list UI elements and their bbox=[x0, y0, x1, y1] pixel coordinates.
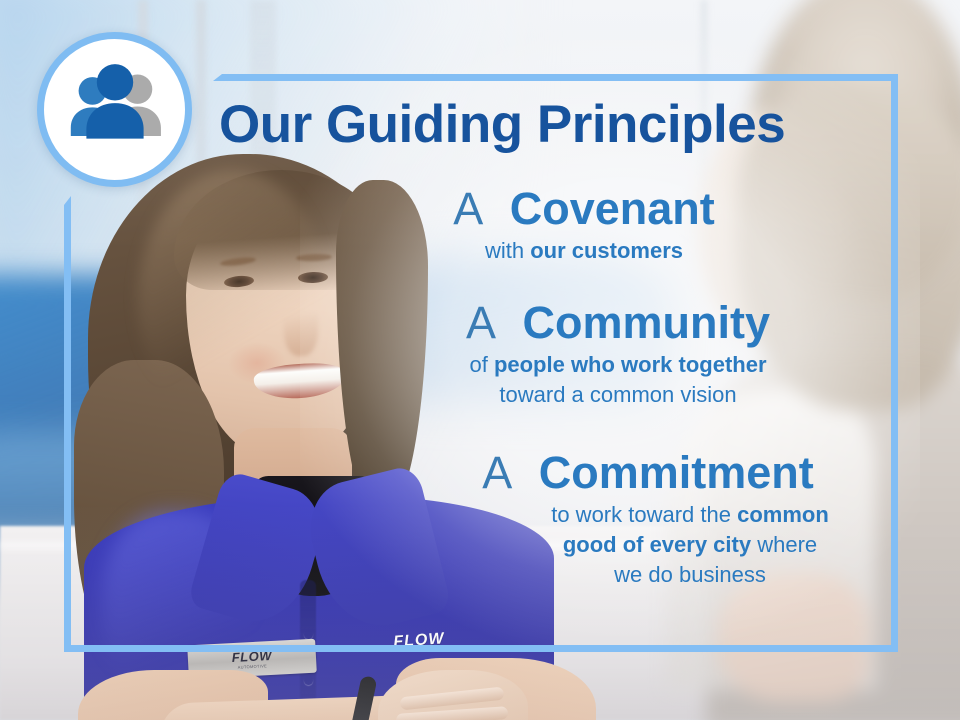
frame-border-right bbox=[891, 74, 898, 652]
principle-covenant: A Covenant with our customers bbox=[288, 182, 880, 266]
principle-covenant-title: A Covenant bbox=[288, 182, 880, 236]
principle-keyword: Commitment bbox=[539, 447, 814, 498]
principle-community-title: A Community bbox=[356, 296, 880, 350]
page-title: Our Guiding Principles bbox=[219, 96, 859, 154]
principle-article: A bbox=[466, 297, 496, 348]
principle-commitment-title: A Commitment bbox=[416, 446, 880, 500]
principle-article: A bbox=[482, 447, 512, 498]
polo-button bbox=[304, 676, 313, 685]
principle-community: A Community of people who work togethert… bbox=[356, 296, 880, 410]
principle-article: A bbox=[453, 183, 483, 234]
principle-commitment-body: to work toward the commongood of every c… bbox=[500, 500, 880, 590]
frame-border-top bbox=[213, 74, 898, 81]
principle-commitment: A Commitment to work toward the commongo… bbox=[416, 446, 880, 590]
principle-keyword: Covenant bbox=[510, 183, 715, 234]
principle-community-body: of people who work togethertoward a comm… bbox=[356, 350, 880, 410]
principle-covenant-body: with our customers bbox=[288, 236, 880, 266]
people-group-icon bbox=[63, 58, 167, 162]
people-group-icon-badge bbox=[37, 32, 192, 187]
name-badge-subtext: AUTOMOTIVE bbox=[238, 663, 268, 670]
principles-list: A Covenant with our customers A Communit… bbox=[300, 182, 880, 596]
frame-border-left bbox=[64, 196, 71, 652]
frame-border-bottom bbox=[64, 645, 898, 652]
polo-button bbox=[304, 630, 313, 639]
principle-keyword: Community bbox=[523, 297, 771, 348]
guiding-principles-graphic: FLOW AUTOMOTIVE FLOW bbox=[0, 0, 960, 720]
